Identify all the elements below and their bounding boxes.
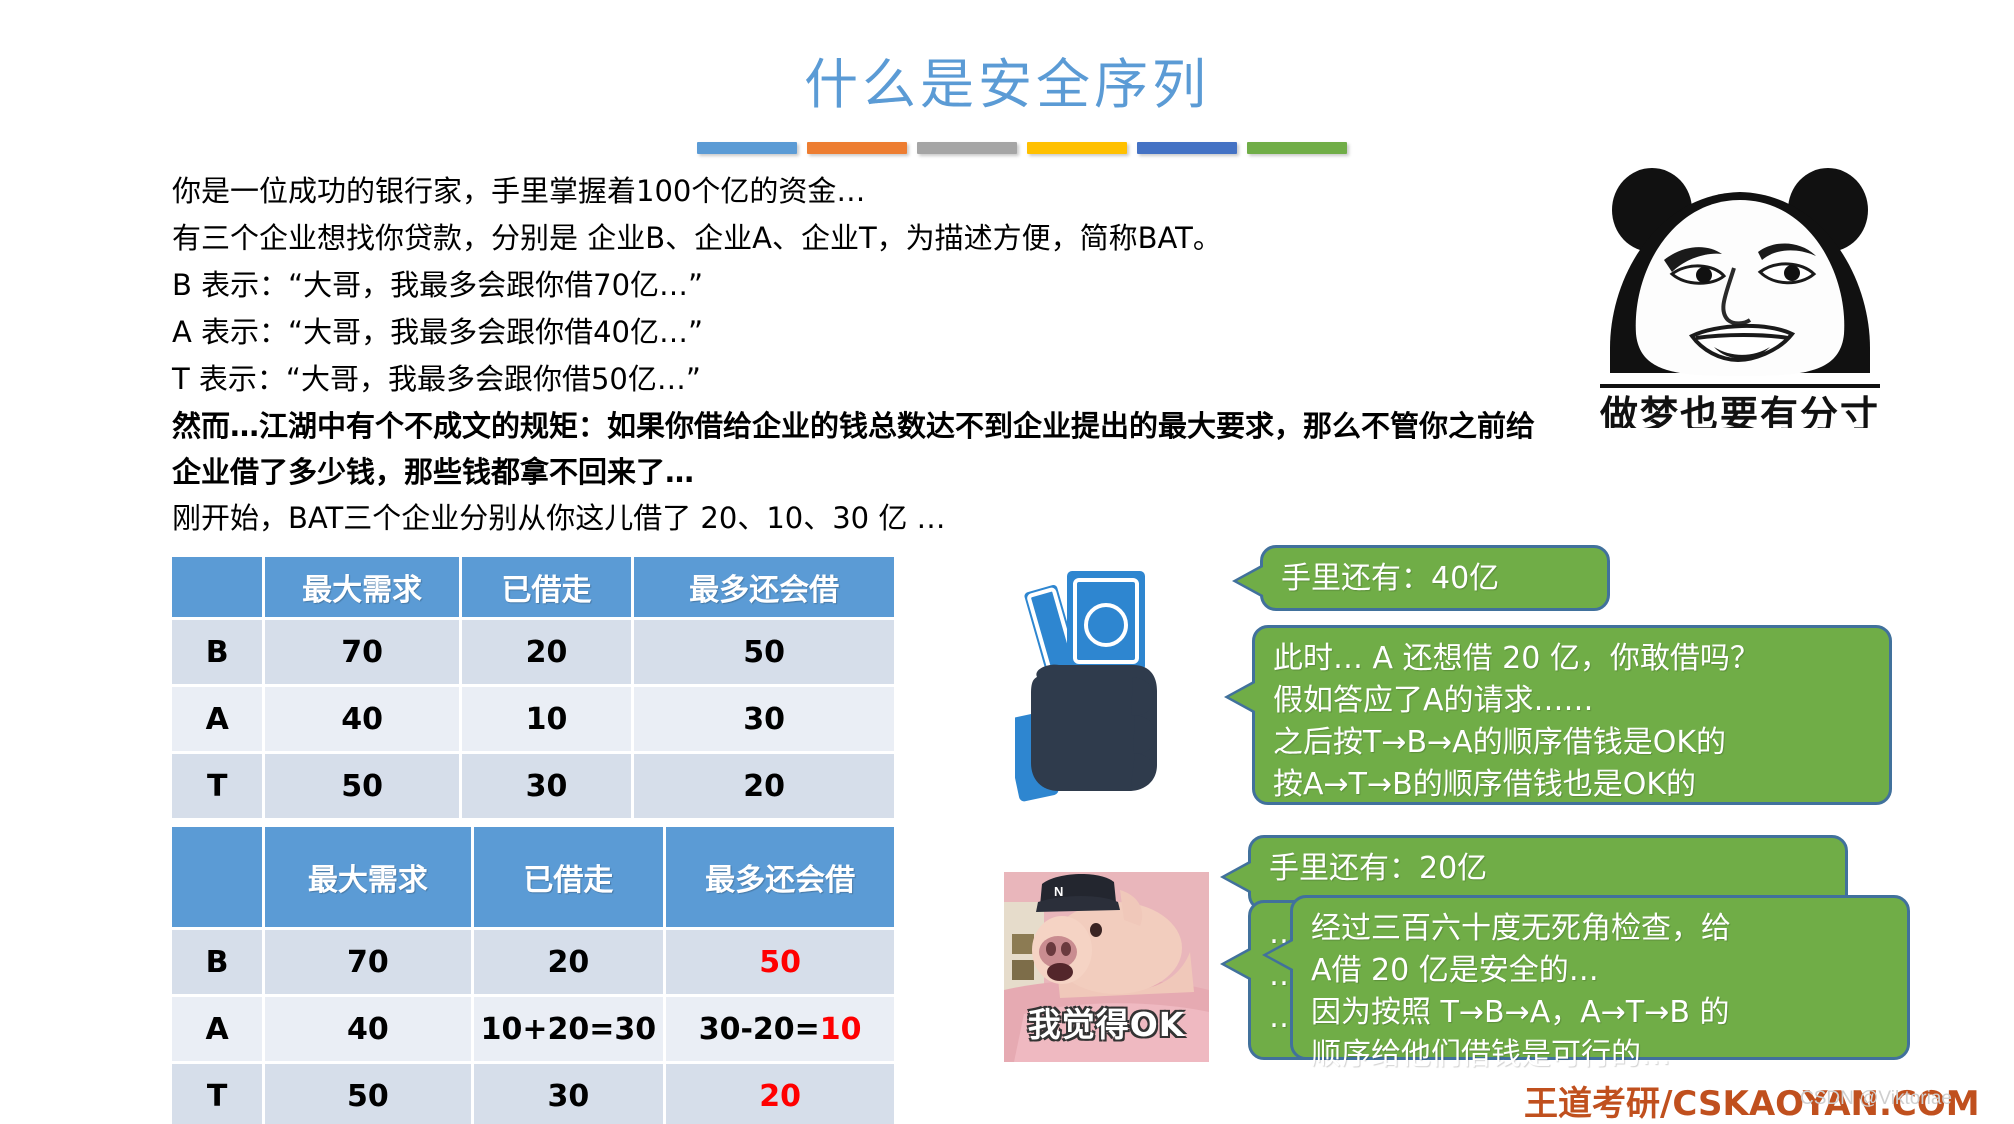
accent-bar-yellow	[1027, 142, 1127, 154]
accent-bar-green	[1247, 142, 1347, 154]
speech-bubble-safe-conclusion: 经过三百六十度无死角检查，给 A借 20 亿是安全的… 因为按照 T→B→A，A…	[1290, 895, 1910, 1060]
accent-bar-darkblue	[1137, 142, 1237, 154]
remain-value: 50	[759, 945, 801, 980]
cell-entity: B	[172, 929, 264, 996]
narrative-line-4: A 表示：“大哥，我最多会跟你借40亿…”	[172, 309, 1562, 356]
pig-meme-caption: 我觉得OK	[1004, 998, 1209, 1046]
table-row: B 70 20 50	[172, 929, 894, 996]
cell-remain: 30-20=10	[665, 996, 894, 1063]
speech-bubble-cash-40: 手里还有：40亿	[1260, 545, 1610, 611]
pig-meme-image: N 我觉得OK	[1004, 872, 1209, 1062]
csdn-watermark: CSDN @Viktoriae	[1800, 1088, 1952, 1110]
table-row: T 50 30 20	[172, 753, 894, 820]
table-row: A 40 10+20=30 30-20=10	[172, 996, 894, 1063]
cell-lent: 30	[472, 1063, 665, 1124]
cell-max: 50	[264, 753, 460, 820]
bubble-tail-fill	[1225, 950, 1251, 978]
th-remain: 最多还会借	[633, 557, 894, 619]
cell-max: 70	[264, 619, 460, 686]
narrative-initial-state: 刚开始，BAT三个企业分别从你这儿借了 20、10、30 亿 …	[172, 495, 1562, 542]
narrative-text: 你是一位成功的银行家，手里掌握着100个亿的资金… 有三个企业想找你贷款，分别是…	[172, 168, 1562, 542]
narrative-line-2: 有三个企业想找你贷款，分别是 企业B、企业A、企业T，为描述方便，简称BAT。	[172, 215, 1562, 262]
cell-lent: 30	[460, 753, 632, 820]
th-lent: 已借走	[460, 557, 632, 619]
bubble-line: 经过三百六十度无死角检查，给	[1311, 908, 1889, 950]
bubble-line: A借 20 亿是安全的…	[1311, 950, 1889, 992]
remain-prefix: 30-20=	[699, 1012, 820, 1047]
page-title: 什么是安全序列	[0, 40, 2014, 119]
bubble-line: 手里还有：40亿	[1281, 561, 1499, 596]
table-row: A 40 10 30	[172, 686, 894, 753]
cell-lent: 10	[460, 686, 632, 753]
narrative-rule-bold: 然而…江湖中有个不成文的规矩：如果你借给企业的钱总数达不到企业提出的最大要求，那…	[172, 403, 1562, 495]
allocation-table-initial: 最大需求 已借走 最多还会借 B 70 20 50 A 40 10 30 T 5…	[172, 557, 894, 821]
accent-bar-gray	[917, 142, 1017, 154]
cell-lent: 20	[472, 929, 665, 996]
cell-remain: 30	[633, 686, 894, 753]
speech-bubble-request-20: 此时… A 还想借 20 亿，你敢借吗？ 假如答应了A的请求…… 之后按T→B→…	[1252, 625, 1892, 805]
table-header-row: 最大需求 已借走 最多还会借	[172, 557, 894, 619]
narrative-line-3: B 表示：“大哥，我最多会跟你借70亿…”	[172, 262, 1562, 309]
allocation-table-after-grant: 最大需求 已借走 最多还会借 B 70 20 50 A 40 10+20=30 …	[172, 827, 894, 1124]
narrative-line-5: T 表示：“大哥，我最多会跟你借50亿…”	[172, 356, 1562, 403]
bubble-line: 手里还有：20亿	[1269, 851, 1487, 886]
bubble-tail-fill	[1225, 863, 1251, 891]
bubble-line: 之后按T→B→A的顺序借钱是OK的	[1273, 722, 1871, 764]
table-header-row: 最大需求 已借走 最多还会借	[172, 827, 894, 929]
accent-bar-group	[697, 142, 1347, 154]
th-entity	[172, 827, 264, 929]
cell-entity: T	[172, 1063, 264, 1124]
th-max-need: 最大需求	[264, 557, 460, 619]
cell-entity: A	[172, 996, 264, 1063]
cell-max: 50	[264, 1063, 472, 1124]
bubble-line: 因为按照 T→B→A，A→T→B 的	[1311, 992, 1889, 1034]
cell-max: 70	[264, 929, 472, 996]
svg-text:N: N	[1054, 884, 1063, 899]
cell-entity: B	[172, 619, 264, 686]
cell-remain: 20	[665, 1063, 894, 1124]
bubble-line: 假如答应了A的请求……	[1273, 680, 1871, 722]
bubble-line: 顺序给他们借钱是可行的…	[1311, 1034, 1889, 1076]
bubble-tail-fill	[1229, 683, 1255, 711]
hand-holding-money-icon	[1015, 565, 1235, 815]
accent-bar-blue	[697, 142, 797, 154]
cell-remain: 50	[665, 929, 894, 996]
cell-max: 40	[264, 686, 460, 753]
cell-lent: 10+20=30	[472, 996, 665, 1063]
table-row: B 70 20 50	[172, 619, 894, 686]
remain-value: 10	[820, 1012, 862, 1047]
table-row: T 50 30 20	[172, 1063, 894, 1124]
panda-meme-caption: 做梦也要有分寸	[1592, 384, 1888, 428]
cell-entity: A	[172, 686, 264, 753]
th-max-need: 最大需求	[264, 827, 472, 929]
bubble-line: 按A→T→B的顺序借钱也是OK的	[1273, 764, 1871, 806]
accent-bar-orange	[807, 142, 907, 154]
cell-remain: 50	[633, 619, 894, 686]
cell-lent: 20	[460, 619, 632, 686]
remain-value: 20	[759, 1079, 801, 1114]
bubble-line: 此时… A 还想借 20 亿，你敢借吗？	[1273, 638, 1871, 680]
slide-canvas: 什么是安全序列 你是一位成功的银行家，手里掌握着100个亿的资金… 有三个企业想…	[0, 0, 2014, 1124]
cell-remain: 20	[633, 753, 894, 820]
panda-meme-image: 做梦也要有分寸	[1592, 148, 1888, 428]
th-entity	[172, 557, 264, 619]
cell-max: 40	[264, 996, 472, 1063]
th-remain: 最多还会借	[665, 827, 894, 929]
narrative-line-1: 你是一位成功的银行家，手里掌握着100个亿的资金…	[172, 168, 1562, 215]
bubble-tail-fill	[1237, 567, 1263, 595]
th-lent: 已借走	[472, 827, 665, 929]
bubble-tail-fill	[1267, 941, 1293, 969]
cell-entity: T	[172, 753, 264, 820]
